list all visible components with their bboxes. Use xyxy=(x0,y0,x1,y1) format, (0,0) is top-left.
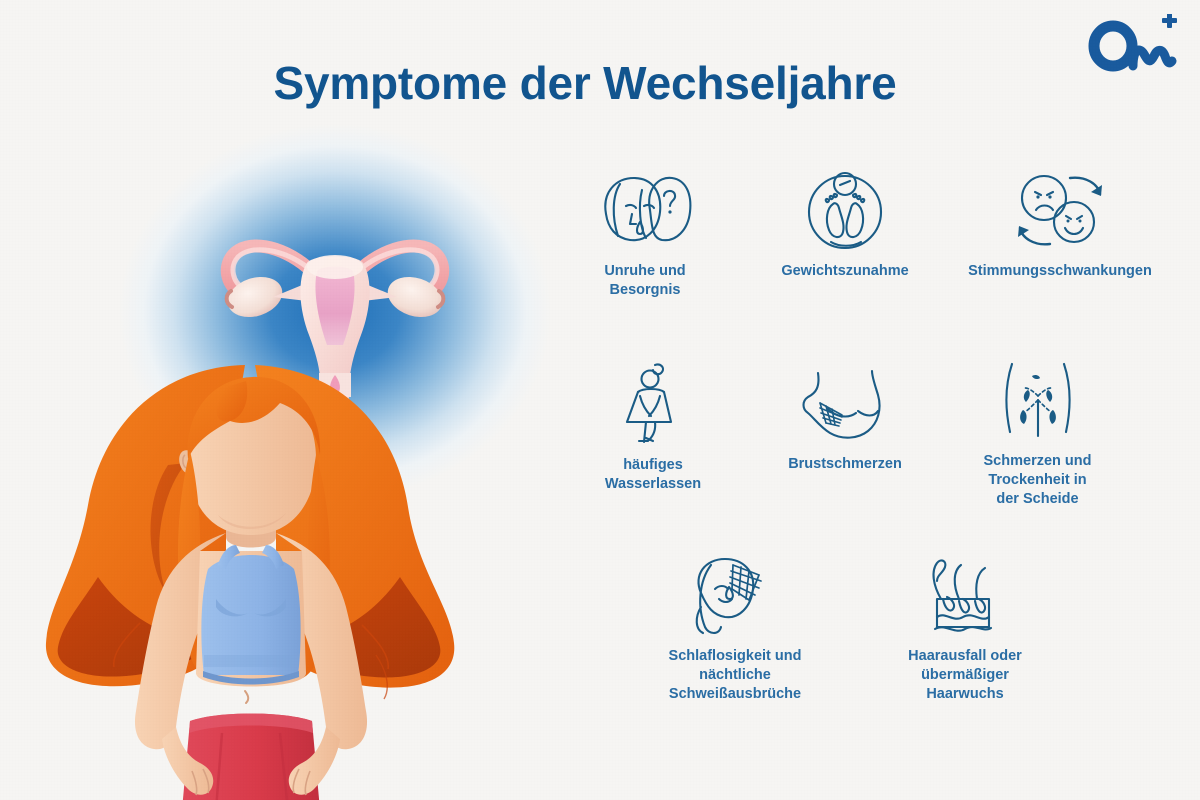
symptom-item-weight-gain[interactable]: Gewichtszunahme xyxy=(750,170,940,281)
hair-follicles-icon xyxy=(923,555,1007,637)
woman-urgent-urination-icon xyxy=(617,360,689,446)
symptom-label: häufiges Wasserlassen xyxy=(568,456,738,494)
symptom-label: Brustschmerzen xyxy=(750,455,940,474)
symptom-label: Haarausfall oder übermäßiger Haarwuchs xyxy=(870,647,1060,704)
page-title: Symptome der Wechseljahre xyxy=(0,56,1170,110)
symptom-item-vaginal-dryness[interactable]: Schmerzen und Trockenheit in der Scheide xyxy=(945,360,1130,509)
symptom-item-night-sweats[interactable]: Schlaflosigkeit und nächtliche Schweißau… xyxy=(620,555,850,704)
breast-pain-icon xyxy=(798,365,892,445)
symptom-label: Stimmungsschwankungen xyxy=(930,262,1190,281)
symptom-item-mood-swings[interactable]: Stimmungsschwankungen xyxy=(930,170,1190,281)
symptom-label: Unruhe und Besorgnis xyxy=(560,262,730,300)
bathroom-scale-feet-icon xyxy=(803,170,887,252)
infographic-canvas: Symptome der Wechseljahre xyxy=(0,0,1200,800)
worried-crying-faces-icon xyxy=(596,170,694,252)
pelvis-pain-dryness-icon xyxy=(998,360,1078,442)
symptom-label: Schmerzen und Trockenheit in der Scheide xyxy=(945,452,1130,509)
sad-happy-faces-arrows-icon xyxy=(1012,170,1108,252)
symptom-label: Gewichtszunahme xyxy=(750,262,940,281)
symptom-label: Schlaflosigkeit und nächtliche Schweißau… xyxy=(620,647,850,704)
woman-illustration xyxy=(40,355,460,800)
sleeping-face-sweat-icon xyxy=(685,555,785,637)
on-plus-logo[interactable] xyxy=(1086,14,1182,76)
symptom-item-urination[interactable]: häufiges Wasserlassen xyxy=(568,360,738,494)
symptom-item-anxiety[interactable]: Unruhe und Besorgnis xyxy=(560,170,730,300)
symptom-item-breast-pain[interactable]: Brustschmerzen xyxy=(750,365,940,474)
symptom-item-hair-change[interactable]: Haarausfall oder übermäßiger Haarwuchs xyxy=(870,555,1060,704)
symptom-grid: Unruhe und Besorgnis xyxy=(560,170,1190,740)
